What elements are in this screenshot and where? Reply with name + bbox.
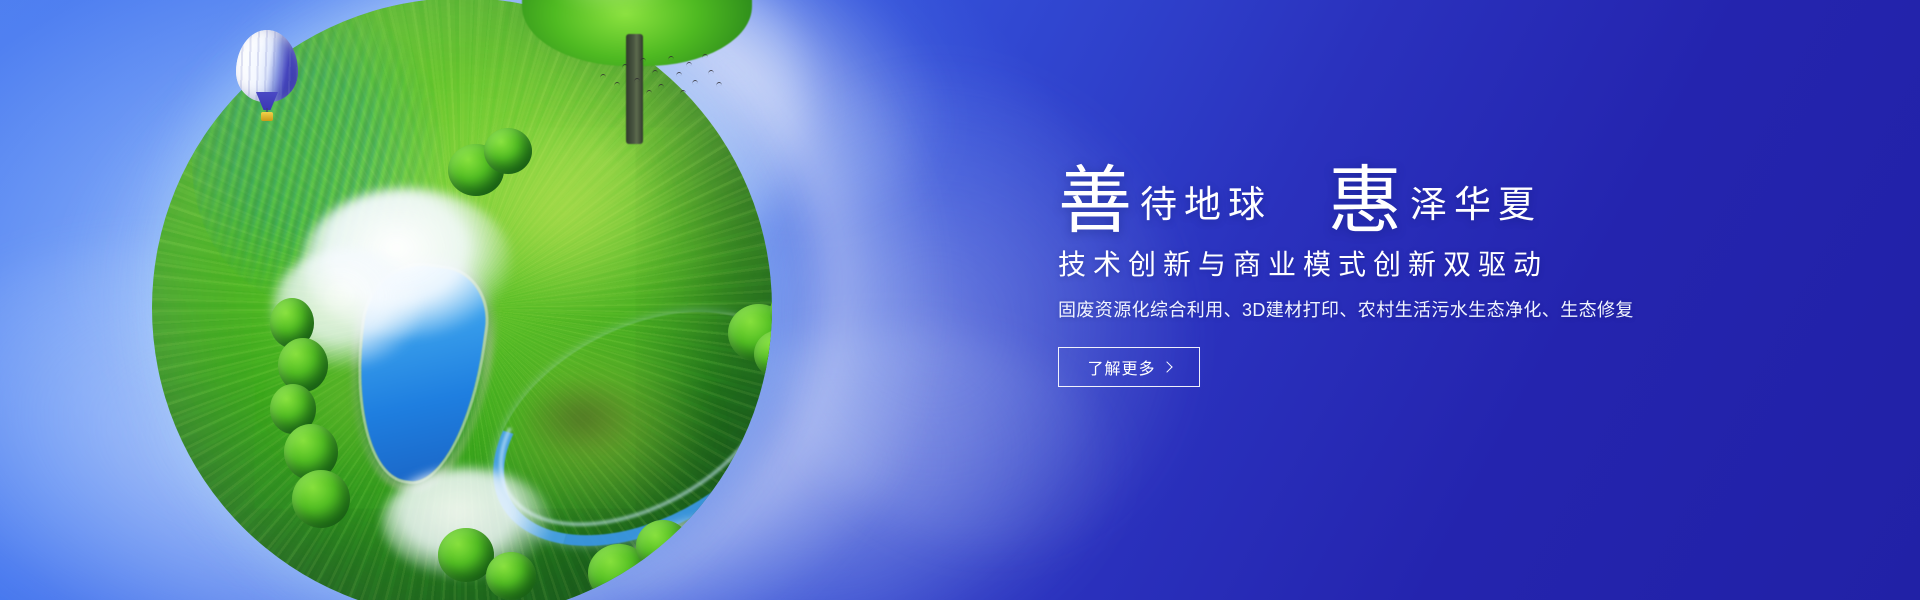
bird-icon: [640, 58, 646, 63]
balloon-basket: [261, 112, 273, 121]
bird-icon: [716, 82, 722, 87]
learn-more-label: 了解更多: [1087, 355, 1155, 379]
headline-big-char-2: 惠: [1328, 168, 1402, 236]
chevron-right-icon: [1161, 362, 1172, 373]
hero-banner: 善 待地球 惠 泽华夏 技术创新与商业模式创新双驱动 固废资源化综合利用、3D建…: [0, 0, 1920, 600]
cloud-wisp: [0, 182, 616, 600]
bush: [754, 330, 772, 378]
bird-icon: [634, 78, 640, 83]
bush: [636, 520, 690, 572]
bush-cluster: [448, 126, 568, 226]
bush: [770, 284, 772, 340]
ground-cloud: [382, 468, 552, 578]
river: [453, 264, 772, 594]
bush-cluster: [438, 498, 688, 600]
bush-cluster: [718, 274, 772, 394]
bush: [486, 552, 536, 600]
bird-icon: [680, 90, 686, 95]
hot-air-balloon-icon: [236, 30, 302, 126]
description: 固废资源化综合利用、3D建材打印、农村生活污水生态净化、生态修复: [1058, 298, 1698, 323]
tree-canopy-highlight: [542, 0, 682, 12]
balloon-gores: [236, 30, 298, 102]
bird-icon: [692, 80, 698, 85]
bush-cluster: [270, 298, 380, 548]
bird-flock: [596, 50, 726, 96]
bird-icon: [652, 70, 658, 75]
ground-cloud: [302, 188, 512, 338]
soil-patch: [522, 378, 642, 458]
bush: [270, 298, 314, 348]
headline-big-char-1: 善: [1058, 168, 1132, 236]
bird-icon: [658, 84, 664, 89]
bird-icon: [646, 90, 652, 95]
headline-group-2: 惠 泽华夏: [1328, 164, 1542, 232]
bird-icon: [676, 72, 682, 77]
lake: [344, 259, 493, 489]
subtitle: 技术创新与商业模式创新双驱动: [1058, 248, 1698, 282]
bush: [284, 424, 338, 480]
bush: [484, 128, 532, 174]
ground-cloud: [272, 248, 422, 368]
bird-icon: [622, 64, 628, 69]
lake-shore: [332, 247, 505, 500]
cloud-wisp: [486, 0, 985, 276]
bird-icon: [702, 54, 708, 59]
bush: [278, 338, 328, 392]
bush: [292, 470, 350, 528]
headline-small-text-2: 泽华夏: [1402, 187, 1542, 224]
learn-more-button[interactable]: 了解更多: [1058, 347, 1200, 387]
bird-icon: [614, 82, 620, 87]
headline-small-text-1: 待地球: [1132, 187, 1272, 224]
ground-cloud: [622, 518, 772, 600]
headline: 善 待地球 惠 泽华夏: [1058, 140, 1698, 232]
cloud-wisp: [580, 295, 1141, 600]
bird-icon: [668, 56, 674, 61]
hero-copy: 善 待地球 惠 泽华夏 技术创新与商业模式创新双驱动 固废资源化综合利用、3D建…: [1058, 140, 1698, 387]
terraced-hills: [159, 0, 481, 333]
meadow-patch: [452, 118, 672, 308]
cloud-wisp: [12, 0, 868, 497]
meadow-patch: [482, 328, 712, 528]
bush: [728, 304, 772, 362]
bird-icon: [708, 70, 714, 75]
bush: [270, 384, 316, 434]
bush: [438, 528, 494, 582]
bird-icon: [686, 62, 692, 67]
bush: [588, 544, 650, 600]
headline-group-1: 善 待地球: [1058, 164, 1272, 232]
bush: [448, 144, 504, 196]
meadow-patch: [272, 328, 442, 478]
river-highlight: [464, 275, 772, 569]
bird-icon: [600, 74, 606, 79]
